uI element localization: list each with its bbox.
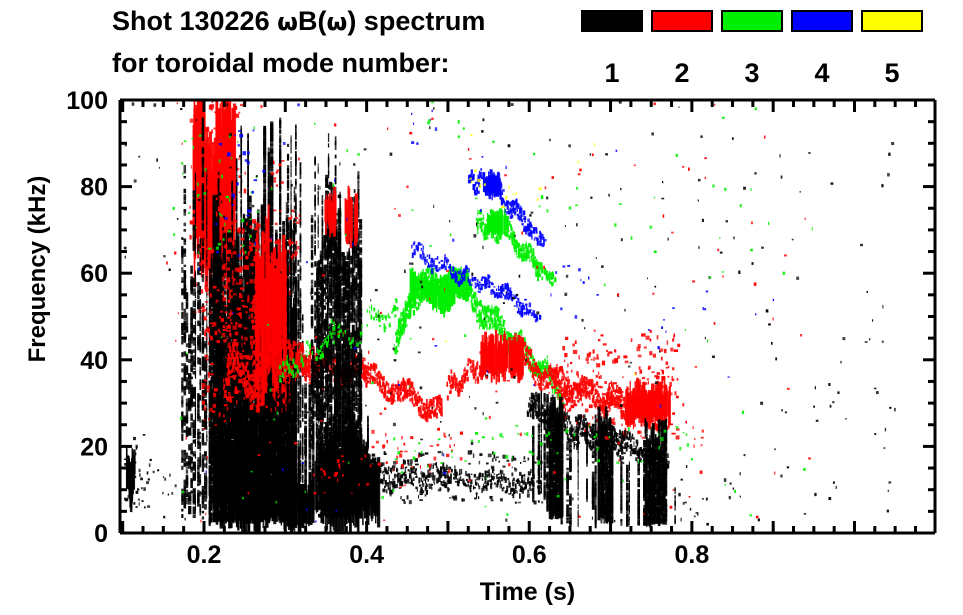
x-tick-label: 0.8 bbox=[674, 541, 709, 569]
y-tick-label: 60 bbox=[80, 260, 108, 288]
plot-area: 0204060801000.20.40.60.8 bbox=[0, 0, 963, 575]
spectrogram-figure: Shot 130226 ωB(ω) spectrum for toroidal … bbox=[0, 0, 963, 615]
y-tick-label: 20 bbox=[80, 433, 108, 461]
x-axis-label: Time (s) bbox=[120, 578, 935, 607]
y-tick-label: 0 bbox=[94, 520, 108, 548]
spectrogram-data-layer bbox=[124, 78, 896, 543]
spectrogram-canvas: 0204060801000.20.40.60.8 bbox=[0, 0, 963, 575]
y-tick-label: 100 bbox=[66, 87, 108, 115]
y-tick-label: 80 bbox=[80, 174, 108, 202]
x-tick-label: 0.2 bbox=[187, 541, 222, 569]
x-tick-label: 0.4 bbox=[349, 541, 384, 569]
x-tick-label: 0.6 bbox=[512, 541, 547, 569]
y-tick-label: 40 bbox=[80, 347, 108, 375]
